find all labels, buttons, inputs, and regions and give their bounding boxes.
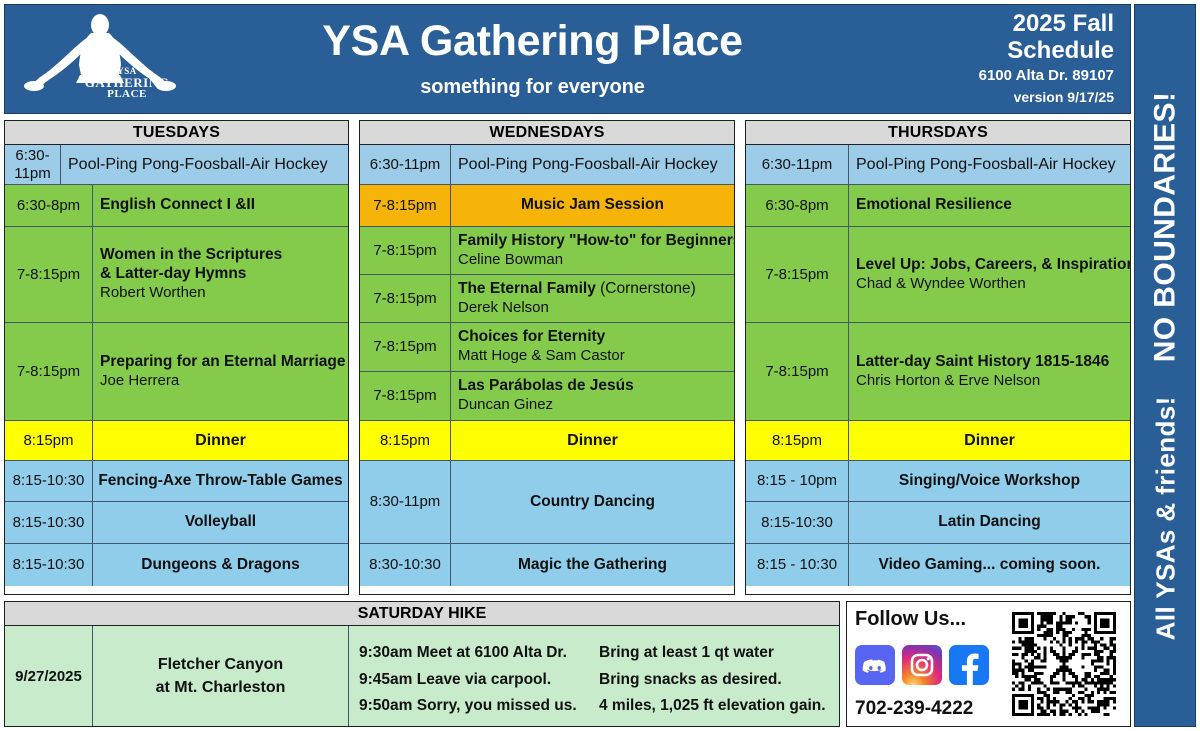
row-activity: Pool-Ping Pong-Foosball-Air Hockey [849, 145, 1130, 184]
schedule-row: 8:15pmDinner [360, 421, 734, 461]
row-activity: Music Jam Session [451, 185, 734, 226]
row-activity: Family History "How-to" for BeginnersCel… [451, 227, 734, 274]
activity-title: Pool-Ping Pong-Foosball-Air Hockey [68, 156, 341, 174]
activity-title: Video Gaming... coming soon. [879, 556, 1101, 575]
schedule-row: 7-8:15pmLatter-day Saint History 1815-18… [746, 323, 1130, 421]
rows-thursdays: 6:30-11pmPool-Ping Pong-Foosball-Air Hoc… [746, 145, 1130, 586]
row-time: 6:30-8pm [5, 185, 93, 226]
schedule-row: 7-8:15pmLevel Up: Jobs, Careers, & Inspi… [746, 227, 1130, 323]
hike-detail-line: 9:50am Sorry, you missed us.4 miles, 1,0… [359, 693, 839, 720]
activity-title: Latin Dancing [938, 513, 1040, 532]
row-activity: Dinner [93, 421, 348, 460]
activity-title: Las Parábolas de Jesús [458, 377, 727, 396]
bottom-strip: SATURDAY HIKE 9/27/2025 Fletcher Canyon … [4, 601, 1131, 727]
row-activity: Latter-day Saint History 1815-1846Chris … [849, 323, 1130, 420]
row-activity: Dungeons & Dragons [93, 544, 348, 586]
activity-title: Family History "How-to" for Beginners [458, 232, 727, 251]
follow-us-panel: Follow Us... [846, 601, 1131, 727]
activity-title: Fencing-Axe Throw-Table Games [98, 472, 342, 491]
column-thursdays: THURSDAYS 6:30-11pmPool-Ping Pong-Foosba… [745, 120, 1131, 595]
schedule-row: 8:15-10:30Dungeons & Dragons [5, 544, 348, 586]
hike-date: 9/27/2025 [5, 626, 93, 726]
row-time: 8:15 - 10pm [746, 461, 849, 501]
address-label: 6100 Alta Dr. 89107 [900, 65, 1114, 88]
day-header-tuesdays: TUESDAYS [5, 121, 348, 145]
follow-us-title: Follow Us... [855, 608, 1003, 631]
row-activity: Choices for EternityMatt Hoge & Sam Cast… [451, 323, 734, 371]
schedule-row: 6:30-11pmPool-Ping Pong-Foosball-Air Hoc… [360, 145, 734, 185]
logo-wordmark: YSA GATHERING PLACE [67, 67, 187, 101]
schedule-row: 6:30-8pmEnglish Connect I &II [5, 185, 348, 227]
schedule-row: 8:15 - 10:30Video Gaming... coming soon. [746, 544, 1130, 586]
activity-title: Country Dancing [530, 493, 655, 512]
row-time: 7-8:15pm [360, 185, 451, 226]
schedule-poster: YSA GATHERING PLACE YSA Gathering Place … [0, 0, 1200, 731]
rows-wednesdays: 6:30-11pmPool-Ping Pong-Foosball-Air Hoc… [360, 145, 734, 586]
row-activity: Las Parábolas de JesúsDuncan Ginez [451, 372, 734, 420]
schedule-row: 8:15pmDinner [5, 421, 348, 461]
hike-detail-right: Bring snacks as desired. [599, 667, 839, 694]
row-time: 8:15-10:30 [5, 461, 93, 501]
row-activity: The Eternal Family (Cornerstone)Derek Ne… [451, 275, 734, 322]
activity-title: Dinner [195, 431, 246, 451]
row-time: 7-8:15pm [746, 323, 849, 420]
activity-title: Dinner [964, 431, 1015, 451]
hike-detail-right: 4 miles, 1,025 ft elevation gain. [599, 693, 839, 720]
activity-title: Emotional Resilience [856, 196, 1123, 215]
saturday-hike-body: 9/27/2025 Fletcher Canyon at Mt. Charles… [5, 626, 839, 726]
schedule-row: 8:15-10:30Latin Dancing [746, 502, 1130, 544]
row-time: 7-8:15pm [360, 323, 451, 371]
row-activity: Video Gaming... coming soon. [849, 544, 1130, 586]
hike-location-line-2: at Mt. Charleston [156, 676, 286, 699]
row-time: 8:30-11pm [360, 461, 451, 543]
row-time: 8:15-10:30 [5, 544, 93, 586]
row-time: 6:30-11pm [5, 145, 61, 184]
schedule-row: 8:30-10:30Magic the Gathering [360, 544, 734, 586]
row-time: 8:15-10:30 [746, 502, 849, 543]
poster-title: YSA Gathering Place [195, 20, 870, 63]
schedule-row: 8:15pmDinner [746, 421, 1130, 461]
activity-title: English Connect I &II [100, 196, 341, 215]
activity-presenter: Joe Herrera [100, 372, 341, 391]
row-activity: Women in the Scriptures& Latter-day Hymn… [93, 227, 348, 322]
activity-presenter: Matt Hoge & Sam Castor [458, 347, 727, 366]
activity-title: Pool-Ping Pong-Foosball-Air Hockey [856, 156, 1123, 174]
row-time: 7-8:15pm [360, 372, 451, 420]
title-block: YSA Gathering Place something for everyo… [195, 20, 900, 99]
hike-location-line-1: Fletcher Canyon [158, 653, 283, 676]
row-time: 8:15 - 10:30 [746, 544, 849, 586]
rows-tuesdays: 6:30-11pmPool-Ping Pong-Foosball-Air Hoc… [5, 145, 348, 586]
row-activity: Dinner [849, 421, 1130, 460]
row-activity: Pool-Ping Pong-Foosball-Air Hockey [451, 145, 734, 184]
row-time: 8:30-10:30 [360, 544, 451, 586]
row-activity: Magic the Gathering [451, 544, 734, 586]
row-activity: Preparing for an Eternal MarriageJoe Her… [93, 323, 348, 420]
schedule-row: 7-8:15pmThe Eternal Family (Cornerstone)… [360, 275, 734, 323]
activity-title: Dungeons & Dragons [141, 556, 299, 575]
day-columns: TUESDAYS 6:30-11pmPool-Ping Pong-Foosbal… [4, 120, 1131, 595]
day-header-thursdays: THURSDAYS [746, 121, 1130, 145]
activity-presenter: Robert Worthen [100, 284, 341, 303]
qr-code-wrap[interactable] [1003, 606, 1124, 722]
instagram-glyph [902, 645, 942, 685]
activity-title: Pool-Ping Pong-Foosball-Air Hockey [458, 156, 727, 174]
discord-glyph [855, 645, 895, 685]
activity-presenter: Celine Bowman [458, 251, 727, 270]
row-time: 7-8:15pm [360, 275, 451, 322]
poster-tagline: something for everyone [195, 76, 870, 99]
row-time: 8:15-10:30 [5, 502, 93, 543]
activity-title: Music Jam Session [521, 196, 664, 215]
row-activity: Level Up: Jobs, Careers, & InspirationCh… [849, 227, 1130, 322]
activity-title: Magic the Gathering [518, 556, 667, 575]
row-activity: Latin Dancing [849, 502, 1130, 543]
social-icons [855, 645, 1003, 685]
instagram-icon[interactable] [902, 645, 942, 685]
schedule-row: 8:30-11pmCountry Dancing [360, 461, 734, 544]
row-activity: English Connect I &II [93, 185, 348, 226]
row-time: 8:15pm [746, 421, 849, 460]
facebook-icon[interactable] [949, 645, 989, 685]
hike-detail-left: 9:50am Sorry, you missed us. [359, 693, 599, 720]
row-time: 8:15pm [5, 421, 93, 460]
activity-title: Choices for Eternity [458, 328, 727, 347]
facebook-glyph [949, 645, 989, 685]
activity-title: Volleyball [185, 513, 256, 532]
activity-title: Preparing for an Eternal Marriage [100, 353, 341, 372]
row-time: 7-8:15pm [746, 227, 849, 322]
schedule-row: 7-8:15pmMusic Jam Session [360, 185, 734, 227]
row-activity: Volleyball [93, 502, 348, 543]
row-time: 6:30-11pm [360, 145, 451, 184]
hike-detail-line: 9:45am Leave via carpool.Bring snacks as… [359, 667, 839, 694]
hike-location: Fletcher Canyon at Mt. Charleston [93, 626, 349, 726]
side-banner: All YSAs & friends! NO BOUNDARIES! [1134, 4, 1196, 727]
schedule-row: 7-8:15pmPreparing for an Eternal Marriag… [5, 323, 348, 421]
qr-code[interactable] [1012, 612, 1116, 716]
hike-detail-left: 9:45am Leave via carpool. [359, 667, 599, 694]
column-wednesdays: WEDNESDAYS 6:30-11pmPool-Ping Pong-Foosb… [359, 120, 735, 595]
row-activity: Country Dancing [451, 461, 734, 543]
logo-line-3: PLACE [67, 89, 187, 100]
side-banner-small: All YSAs & friends! [1150, 396, 1181, 640]
schedule-row: 7-8:15pmChoices for EternityMatt Hoge & … [360, 323, 734, 372]
follow-us-left: Follow Us... [855, 606, 1003, 722]
poster-header: YSA GATHERING PLACE YSA Gathering Place … [4, 4, 1131, 114]
ysa-logo: YSA GATHERING PLACE [5, 7, 195, 111]
schedule-row: 8:15-10:30Volleyball [5, 502, 348, 544]
row-activity: Emotional Resilience [849, 185, 1130, 226]
activity-presenter: Derek Nelson [458, 299, 727, 318]
logo-line-2: GATHERING [67, 76, 187, 89]
activity-title-suffix: (Cornerstone) [596, 280, 696, 297]
row-time: 6:30-8pm [746, 185, 849, 226]
row-activity: Dinner [451, 421, 734, 460]
phone-number: 702-239-4222 [855, 698, 1003, 720]
row-time: 6:30-11pm [746, 145, 849, 184]
activity-presenter: Chad & Wyndee Worthen [856, 275, 1123, 294]
schedule-row: 7-8:15pmWomen in the Scriptures& Latter-… [5, 227, 348, 323]
schedule-row: 8:15 - 10pmSinging/Voice Workshop [746, 461, 1130, 502]
activity-presenter: Chris Horton & Erve Nelson [856, 372, 1123, 391]
row-activity: Fencing-Axe Throw-Table Games [93, 461, 348, 501]
side-banner-text: All YSAs & friends! NO BOUNDARIES! [1148, 91, 1182, 640]
day-header-wednesdays: WEDNESDAYS [360, 121, 734, 145]
schedule-row: 7-8:15pmLas Parábolas de JesúsDuncan Gin… [360, 372, 734, 421]
activity-title: Singing/Voice Workshop [899, 472, 1080, 491]
discord-icon[interactable] [855, 645, 895, 685]
row-activity: Singing/Voice Workshop [849, 461, 1130, 501]
hike-detail-left: 9:30am Meet at 6100 Alta Dr. [359, 640, 599, 667]
hike-detail-right: Bring at least 1 qt water [599, 640, 839, 667]
activity-title: Women in the Scriptures [100, 246, 341, 265]
side-banner-big: NO BOUNDARIES! [1148, 91, 1182, 362]
schedule-row: 6:30-11pmPool-Ping Pong-Foosball-Air Hoc… [5, 145, 348, 185]
row-time: 8:15pm [360, 421, 451, 460]
schedule-row: 7-8:15pmFamily History "How-to" for Begi… [360, 227, 734, 275]
activity-title-line-2: & Latter-day Hymns [100, 265, 341, 284]
hike-details: 9:30am Meet at 6100 Alta Dr.Bring at lea… [349, 626, 839, 726]
season-label: 2025 Fall Schedule [900, 10, 1114, 65]
activity-title: The Eternal Family (Cornerstone) [458, 280, 727, 299]
saturday-hike-box: SATURDAY HIKE 9/27/2025 Fletcher Canyon … [4, 601, 840, 727]
schedule-row: 8:15-10:30Fencing-Axe Throw-Table Games [5, 461, 348, 502]
row-time: 7-8:15pm [360, 227, 451, 274]
schedule-row: 6:30-11pmPool-Ping Pong-Foosball-Air Hoc… [746, 145, 1130, 185]
activity-title: Latter-day Saint History 1815-1846 [856, 353, 1123, 372]
saturday-hike-header: SATURDAY HIKE [5, 602, 839, 626]
version-label: version 9/17/25 [900, 87, 1114, 108]
activity-title: Dinner [567, 431, 618, 451]
activity-title: Level Up: Jobs, Careers, & Inspiration [856, 256, 1123, 275]
row-time: 7-8:15pm [5, 323, 93, 420]
header-meta: 2025 Fall Schedule 6100 Alta Dr. 89107 v… [900, 10, 1130, 109]
activity-presenter: Duncan Ginez [458, 396, 727, 415]
column-tuesdays: TUESDAYS 6:30-11pmPool-Ping Pong-Foosbal… [4, 120, 349, 595]
hike-detail-line: 9:30am Meet at 6100 Alta Dr.Bring at lea… [359, 640, 839, 667]
row-activity: Pool-Ping Pong-Foosball-Air Hockey [61, 145, 348, 184]
row-time: 7-8:15pm [5, 227, 93, 322]
schedule-row: 6:30-8pmEmotional Resilience [746, 185, 1130, 227]
